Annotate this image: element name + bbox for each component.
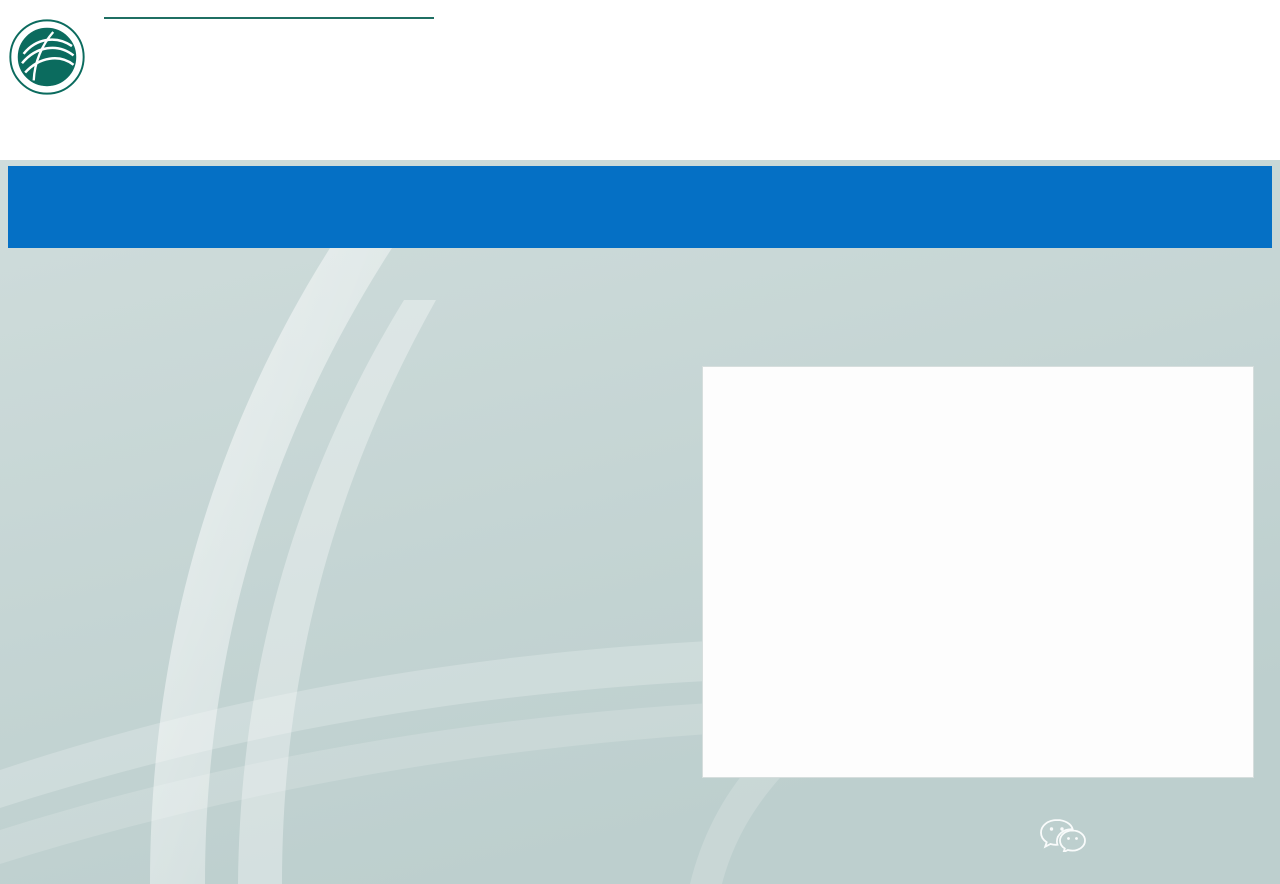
logo-text-block — [104, 10, 434, 25]
logo-divider — [104, 17, 434, 19]
header-bar — [0, 0, 1280, 160]
slide-title-banner — [8, 166, 1272, 248]
state-grid-globe-emblem — [8, 18, 86, 96]
chart-card — [702, 366, 1254, 778]
wechat-icon — [1040, 818, 1088, 852]
wechat-watermark — [1040, 818, 1096, 852]
logo-block — [8, 10, 434, 96]
body-text-block — [38, 348, 708, 378]
chart-plot — [703, 367, 1255, 779]
